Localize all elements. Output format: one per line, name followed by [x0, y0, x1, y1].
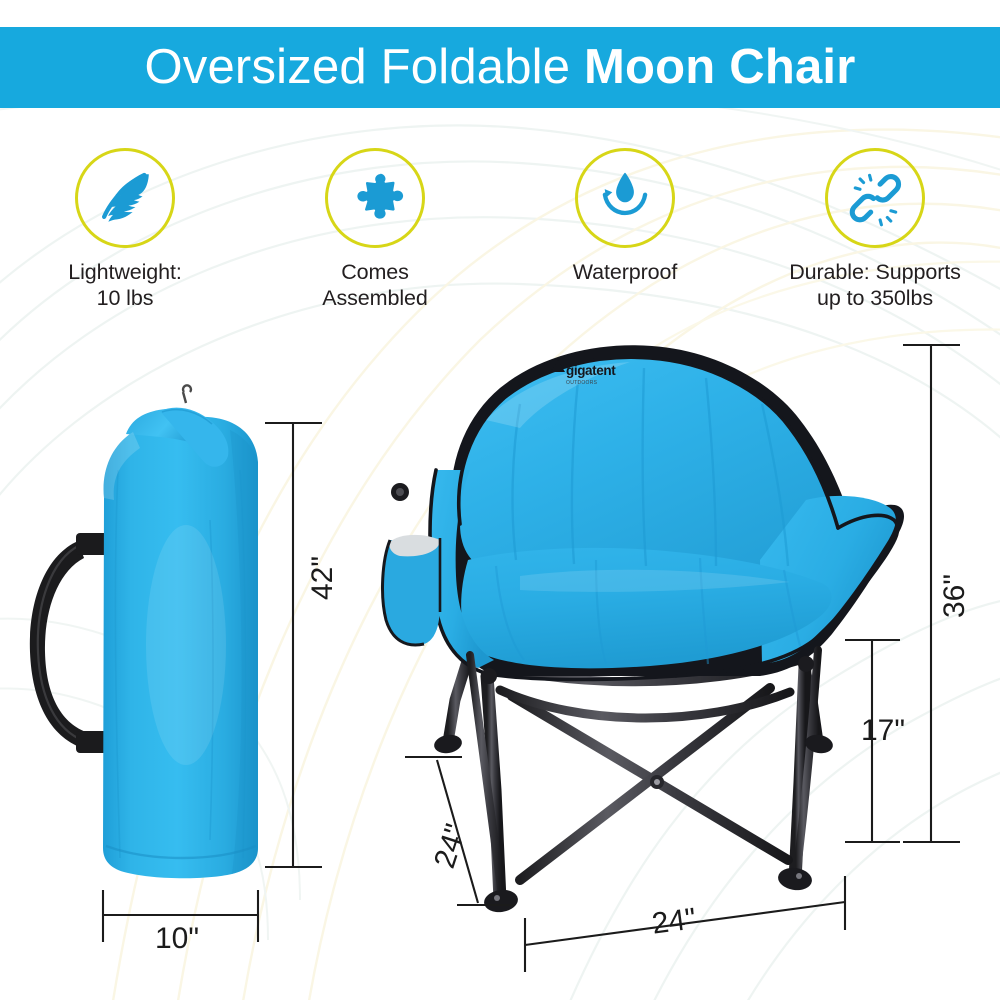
- foot-rivet-right: [796, 873, 802, 879]
- feature-item-waterproof: Waterproof: [500, 148, 750, 328]
- chain-link-icon: [844, 167, 906, 229]
- water-drop-icon: [593, 169, 657, 227]
- chair-cup-holder-pocket: [383, 535, 440, 645]
- foot-front-left: [483, 888, 520, 915]
- feature-label: Waterproof: [573, 259, 678, 285]
- chair-frame-front: [470, 650, 818, 900]
- bag-sheen: [146, 525, 226, 765]
- feature-item-assembled: Comes Assembled: [250, 148, 500, 328]
- seat-joint-left: [481, 668, 497, 684]
- carry-bag-illustration: [30, 385, 258, 878]
- feature-circle: [75, 148, 175, 248]
- svg-text:OUTDOORS: OUTDOORS: [566, 380, 598, 386]
- dim-line-24-depth: [437, 760, 478, 903]
- feature-label: Lightweight: 10 lbs: [68, 259, 182, 311]
- product-infographic: Oversized Foldable Moon Chair Lightweigh…: [0, 0, 1000, 1000]
- dim-line-24-width: [525, 902, 845, 945]
- bag-drawstring: [183, 385, 191, 403]
- cross-brace-pivot-center: [654, 779, 660, 785]
- foot-rear-left: [433, 733, 464, 756]
- chair-pivot-knob-center: [396, 488, 404, 496]
- title-bold-part: Moon Chair: [584, 40, 855, 94]
- page-title: Oversized Foldable Moon Chair: [144, 43, 855, 92]
- foot-front-right: [777, 866, 814, 893]
- foot-rivet-left: [494, 895, 500, 901]
- title-light-part: Oversized Foldable: [144, 40, 584, 94]
- seat-joint-right: [798, 656, 814, 672]
- feature-label: Durable: Supports up to 350lbs: [789, 259, 961, 311]
- feature-circle: [575, 148, 675, 248]
- puzzle-piece-icon: [345, 168, 405, 228]
- feature-circle: [825, 148, 925, 248]
- feature-circle: [325, 148, 425, 248]
- moon-chair-illustration: gigatent OUTDOORS: [383, 345, 904, 914]
- feature-item-durable: Durable: Supports up to 350lbs: [750, 148, 1000, 328]
- header-banner: Oversized Foldable Moon Chair: [0, 27, 1000, 108]
- feature-list: Lightweight: 10 lbs Comes Assembled Wate…: [0, 148, 1000, 328]
- feature-item-lightweight: Lightweight: 10 lbs: [0, 148, 250, 328]
- feather-icon: [94, 167, 156, 229]
- svg-text:gigatent: gigatent: [566, 363, 616, 378]
- feature-label: Comes Assembled: [322, 259, 427, 311]
